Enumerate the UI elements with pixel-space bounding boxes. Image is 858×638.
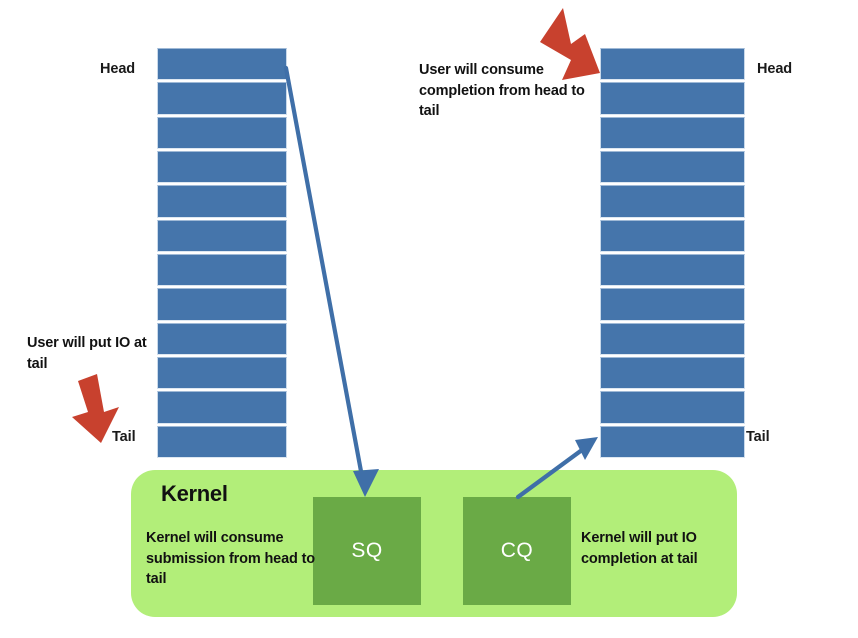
blue-arrow-submission <box>286 68 379 497</box>
ring-cell <box>600 254 745 286</box>
ring-cell <box>157 48 287 80</box>
ring-cell <box>600 357 745 389</box>
ring-cell <box>157 254 287 286</box>
annotation-user-put-io: User will put IO at tail <box>27 333 157 374</box>
ring-cell <box>157 323 287 355</box>
submission-ring-head-label: Head <box>100 61 135 77</box>
ring-cell <box>157 220 287 252</box>
cq-box: CQ <box>463 497 571 605</box>
ring-cell <box>157 391 287 423</box>
annotation-kernel-put-completion: Kernel will put IO completion at tail <box>581 528 731 569</box>
ring-cell <box>600 48 745 80</box>
completion-ring <box>600 48 745 458</box>
ring-cell <box>600 82 745 114</box>
submission-ring <box>157 48 287 458</box>
ring-cell <box>600 117 745 149</box>
ring-cell <box>157 288 287 320</box>
ring-cell <box>600 391 745 423</box>
annotation-kernel-consume-submission: Kernel will consume submission from head… <box>146 528 316 590</box>
ring-cell <box>157 426 287 458</box>
submission-ring-tail-label: Tail <box>112 429 136 445</box>
sq-box: SQ <box>313 497 421 605</box>
ring-cell <box>600 220 745 252</box>
diagram-canvas: Head Tail Head Tail Kernel SQ CQ User wi… <box>0 0 858 638</box>
ring-cell <box>157 151 287 183</box>
annotation-user-consume-completion: User will consume completion from head t… <box>419 60 594 122</box>
completion-ring-tail-label: Tail <box>746 429 770 445</box>
ring-cell <box>600 185 745 217</box>
ring-cell <box>157 357 287 389</box>
ring-cell <box>600 323 745 355</box>
ring-cell <box>600 151 745 183</box>
ring-cell <box>600 288 745 320</box>
completion-ring-head-label: Head <box>757 61 792 77</box>
kernel-title: Kernel <box>161 481 228 507</box>
ring-cell <box>157 185 287 217</box>
ring-cell <box>600 426 745 458</box>
ring-cell <box>157 82 287 114</box>
ring-cell <box>157 117 287 149</box>
